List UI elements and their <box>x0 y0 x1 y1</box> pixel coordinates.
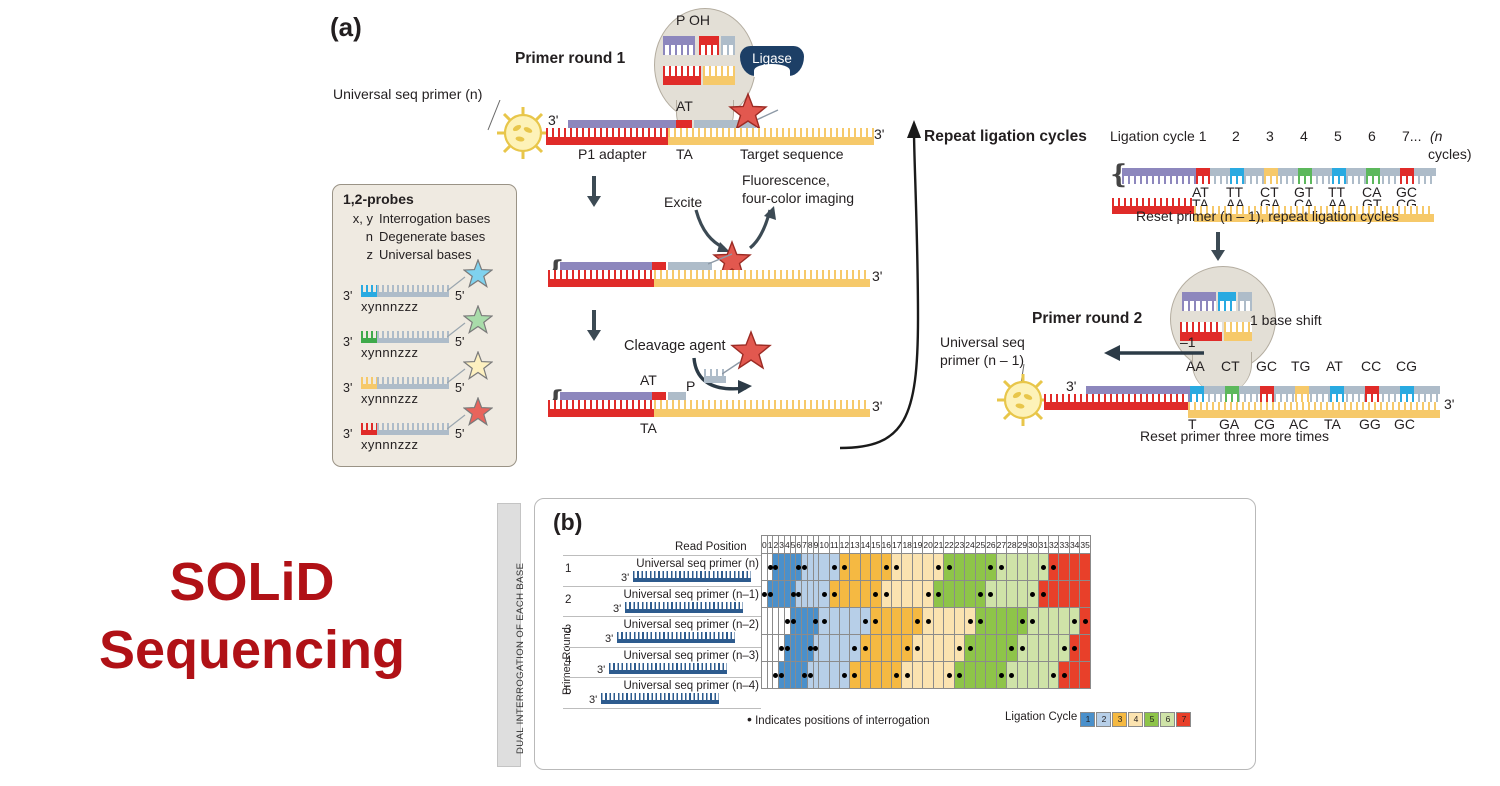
grid-cell <box>839 608 849 635</box>
cleaved-linker <box>722 360 746 378</box>
interrogation-dot <box>873 592 878 597</box>
primer-teeth-4 <box>609 663 727 670</box>
grid-cell <box>986 662 996 689</box>
flow-arrow-3-stem <box>1216 232 1220 252</box>
r2-top-base-1: AA <box>1186 358 1205 374</box>
bubble2-template-red-teeth <box>1180 322 1222 332</box>
interrogation-dot <box>968 619 973 624</box>
grid-cell <box>891 608 901 635</box>
table-row <box>762 554 1091 581</box>
bubble-template-red-teeth <box>663 66 701 76</box>
primer-round-2-label: Primer round 2 <box>1032 310 1142 328</box>
grid-cell <box>912 608 922 635</box>
primer-teeth-5 <box>601 693 719 700</box>
read-position-header-35: 35 <box>1080 536 1090 554</box>
interrogation-dot <box>894 673 899 678</box>
probe-three-prime-2: 3' <box>343 335 352 349</box>
grid-cell <box>1038 581 1048 608</box>
interrogation-dot <box>852 673 857 678</box>
grid-cell <box>839 554 849 581</box>
grid-cell <box>1069 608 1079 635</box>
interrogation-dot <box>863 646 868 651</box>
read-position-label: Read Position <box>675 541 747 553</box>
bubble2-grey-teeth <box>1238 301 1252 311</box>
primer-three-prime-5: 3' <box>589 694 597 706</box>
grid-cell <box>1049 581 1059 608</box>
grid-cell <box>850 635 860 662</box>
interrogation-dot <box>791 592 796 597</box>
interrogation-dot <box>1020 646 1025 651</box>
grid-cell <box>1007 554 1017 581</box>
grid-cell <box>1007 608 1017 635</box>
grid-cell <box>891 635 901 662</box>
lig-top-purple <box>1122 168 1196 176</box>
grid-cell <box>923 608 933 635</box>
probe-backbone-teeth-3 <box>377 377 449 384</box>
strand2-purple <box>560 262 652 270</box>
r2-top-base-7: CG <box>1396 358 1417 374</box>
grid-cell <box>891 662 901 689</box>
grid-cell <box>860 635 870 662</box>
grid-cell <box>902 608 912 635</box>
interrogation-dot <box>988 592 993 597</box>
interrogation-dot <box>822 592 827 597</box>
r2-probe-block-5 <box>1330 386 1344 394</box>
read-position-header-23: 23 <box>954 536 964 554</box>
grid-cell <box>1017 608 1027 635</box>
grid-cell <box>1080 608 1090 635</box>
grid-cell <box>975 635 985 662</box>
grid-cell <box>996 662 1006 689</box>
legend-swatch-cycle-4: 4 <box>1128 712 1143 727</box>
read-position-table: 0123456789101112131415161718192021222324… <box>761 535 1091 689</box>
read-position-header-13: 13 <box>850 536 860 554</box>
n-cycles-line2: cycles) <box>1428 146 1472 162</box>
interrogation-dot <box>947 673 952 678</box>
lig-probe-block-7 <box>1400 168 1414 176</box>
primer-label-3: Universal seq primer (n–2) <box>579 619 759 631</box>
interrogation-dot <box>773 565 778 570</box>
grid-cell <box>1059 581 1069 608</box>
grid-cell <box>944 581 954 608</box>
interrogation-dot <box>1020 619 1025 624</box>
grid-cell <box>1028 608 1038 635</box>
bubble-probe-purple <box>663 36 695 45</box>
read-position-header-row: 0123456789101112131415161718192021222324… <box>762 536 1091 554</box>
lig-probe-block-teeth-5 <box>1332 176 1346 184</box>
grid-cell <box>965 608 975 635</box>
lig-probe-block-5 <box>1332 168 1346 176</box>
interrogation-dot <box>1030 592 1035 597</box>
ligase-shape: Ligase <box>740 46 804 76</box>
table-row <box>762 635 1091 662</box>
legend-swatch-cycle-7: 7 <box>1176 712 1191 727</box>
grid-cell <box>881 554 891 581</box>
grid-cell <box>902 581 912 608</box>
probes-legend-symbol-2: n <box>339 229 373 244</box>
ligation-cycle-number-6: 6 <box>1368 128 1376 144</box>
probes-box-title: 1,2-probes <box>343 191 414 207</box>
probe-sequence-2: xynnnzzz <box>361 345 418 360</box>
bubble-template-yellow-teeth <box>703 66 735 76</box>
interrogation-dot <box>905 646 910 651</box>
interrogation-dot <box>957 673 962 678</box>
interrogation-dot <box>1009 646 1014 651</box>
r2-bot-base-7: GC <box>1394 416 1415 432</box>
primer-three-prime-4: 3' <box>597 664 605 676</box>
grid-cell <box>986 554 996 581</box>
interrogation-dot <box>808 673 813 678</box>
row-divider-3 <box>563 616 761 617</box>
read-position-header-24: 24 <box>965 536 975 554</box>
grid-cell <box>1017 581 1027 608</box>
grid-cell <box>891 554 901 581</box>
bead-icon-1 <box>495 105 551 161</box>
interrogation-dot <box>905 673 910 678</box>
interrogation-dot <box>813 619 818 624</box>
grid-cell <box>1049 608 1059 635</box>
panel-a-label: (a) <box>330 12 362 43</box>
primer-round-number-4: 4 <box>565 655 571 667</box>
row-divider-2 <box>563 586 761 587</box>
grid-cell <box>860 662 870 689</box>
interrogation-dot <box>1062 646 1067 651</box>
bubble2-cyan-teeth <box>1218 301 1236 311</box>
template2-red-teeth <box>548 270 654 279</box>
grid-cell <box>933 581 943 608</box>
table-row <box>762 581 1091 608</box>
interrogation-dot <box>802 673 807 678</box>
interrogation-dot <box>873 619 878 624</box>
interrogation-dot <box>791 619 796 624</box>
bubble2-template-yellow <box>1224 332 1252 341</box>
dual-interrogation-label: DUAL INTERROGATION OF EACH BASE <box>515 563 526 754</box>
lig-probe-block-teeth-3 <box>1264 176 1278 184</box>
grid-cell <box>1038 635 1048 662</box>
grid-cell <box>1059 608 1069 635</box>
grid-cell <box>954 662 964 689</box>
read-position-header-26: 26 <box>986 536 996 554</box>
read-position-header-30: 30 <box>1028 536 1038 554</box>
grid-cell <box>1069 662 1079 689</box>
flow-arrow-1-head <box>587 196 601 207</box>
read-position-header-34: 34 <box>1069 536 1079 554</box>
interrogation-dot <box>1072 646 1077 651</box>
grid-cell <box>996 635 1006 662</box>
read-position-header-25: 25 <box>975 536 985 554</box>
interrogation-dot <box>1041 592 1046 597</box>
grid-cell <box>933 662 943 689</box>
lig-probe-block-teeth-6 <box>1366 176 1380 184</box>
interrogation-dot <box>968 646 973 651</box>
at-label-3: AT <box>640 372 657 388</box>
lig-top-purple-teeth <box>1122 176 1196 184</box>
probe-sequence-1: xynnnzzz <box>361 299 418 314</box>
interrogation-dot <box>1072 619 1077 624</box>
strand2-grey-probe <box>668 262 712 270</box>
grid-cell <box>850 581 860 608</box>
grid-cell <box>1069 554 1079 581</box>
grid-cell <box>839 662 849 689</box>
grid-cell <box>1069 581 1079 608</box>
ligation-cycle-number-7: 7... <box>1402 128 1421 144</box>
probe-sequence-4: xynnnzzz <box>361 437 418 452</box>
interrogation-dot <box>796 592 801 597</box>
grid-cell <box>1028 662 1038 689</box>
probe-backbone-teeth-1 <box>377 285 449 292</box>
grid-cell <box>1080 554 1090 581</box>
grid-cell <box>1028 554 1038 581</box>
probes-legend-desc-2: Degenerate bases <box>379 229 485 244</box>
grid-cell <box>850 554 860 581</box>
primer-round-number-2: 2 <box>565 594 571 606</box>
grid-cell <box>1007 662 1017 689</box>
strand1-red-probe <box>676 120 692 128</box>
template3-red-teeth <box>548 400 654 409</box>
ta-label-bottom-1: TA <box>676 146 693 162</box>
recycle-arrow <box>810 118 930 458</box>
grid-cell <box>891 581 901 608</box>
interrogation-dot <box>915 619 920 624</box>
grid-cell <box>944 608 954 635</box>
r2-probe-block-teeth-7 <box>1400 394 1414 402</box>
probes-legend-symbol-1: x, y <box>339 211 373 226</box>
p1-adapter-label: P1 adapter <box>578 146 647 162</box>
bubble-probe-red <box>699 36 719 45</box>
grid-cell <box>923 662 933 689</box>
lig-probe-block-4 <box>1298 168 1312 176</box>
probe-interrogation-teeth-4 <box>361 423 377 430</box>
interrogation-dot <box>947 565 952 570</box>
grid-cell <box>944 635 954 662</box>
grid-footnote-text: Indicates positions of interrogation <box>755 715 930 727</box>
grid-cell <box>829 662 839 689</box>
probe-three-prime-3: 3' <box>343 381 352 395</box>
grid-cell <box>965 635 975 662</box>
strand2-fluor-linker <box>708 252 738 268</box>
probe-backbone-teeth-2 <box>377 331 449 338</box>
bubble-probe-purple-teeth <box>663 45 695 55</box>
grid-cell <box>871 608 881 635</box>
n-cycles-line1: (n <box>1430 128 1442 144</box>
primer-round-axis: Primer Round <box>549 617 563 697</box>
grid-cell <box>871 581 881 608</box>
r2-probe-block-teeth-4 <box>1295 394 1309 402</box>
probe-five-prime-4: 5' <box>455 427 464 441</box>
interrogation-dot <box>978 619 983 624</box>
interrogation-dot <box>988 565 993 570</box>
interrogation-dot <box>926 592 931 597</box>
interrogation-dot <box>884 592 889 597</box>
grid-cell <box>902 554 912 581</box>
interrogation-dot <box>936 565 941 570</box>
grid-cell <box>1038 554 1048 581</box>
flow-arrow-2-head <box>587 330 601 341</box>
probes-legend-desc-3: Universal bases <box>379 247 472 262</box>
grid-cell <box>933 635 943 662</box>
lig-probe-block-teeth-1 <box>1196 176 1210 184</box>
lig-top-probe-blocks <box>1196 168 1436 184</box>
interrogation-dot <box>936 592 941 597</box>
grid-cell <box>1059 662 1069 689</box>
probe-three-prime-4: 3' <box>343 427 352 441</box>
flow-arrow-3-head <box>1211 250 1225 261</box>
grid-cell <box>829 608 839 635</box>
interrogation-dot <box>842 565 847 570</box>
interrogation-dot <box>773 673 778 678</box>
interrogation-dot <box>802 565 807 570</box>
r2-probe-block-4 <box>1295 386 1309 394</box>
panel-b-label: (b) <box>553 509 582 536</box>
r2-probe-block-teeth-1 <box>1190 394 1204 402</box>
r2-probe-block-6 <box>1365 386 1379 394</box>
grid-cell <box>881 581 891 608</box>
three-prime-left-round2: 3' <box>1066 378 1076 394</box>
p-oh-label: P OH <box>676 12 710 28</box>
primer-three-prime-3: 3' <box>605 633 613 645</box>
interrogation-dot <box>863 619 868 624</box>
bubble-probe-grey <box>721 36 735 45</box>
grid-cell <box>933 608 943 635</box>
grid-cell <box>912 662 922 689</box>
grid-cell <box>1049 662 1059 689</box>
grid-cell <box>954 608 964 635</box>
table-row <box>762 662 1091 689</box>
read-position-header-31: 31 <box>1038 536 1048 554</box>
ligation-cycle-swatches: 1234567 <box>1080 711 1192 723</box>
primer-teeth-2 <box>625 602 743 609</box>
interrogation-dot <box>999 673 1004 678</box>
interrogation-dot <box>785 619 790 624</box>
grid-cell <box>954 581 964 608</box>
lig-probe-block-6 <box>1366 168 1380 176</box>
primer-three-prime-2: 3' <box>613 603 621 615</box>
grid-cell <box>933 554 943 581</box>
probe-five-prime-1: 5' <box>455 289 464 303</box>
grid-cell <box>902 635 912 662</box>
grid-cell <box>923 554 933 581</box>
lig-probe-block-teeth-4 <box>1298 176 1312 184</box>
row-divider-bottom <box>563 708 761 709</box>
dual-interrogation-sidebar: DUAL INTERROGATION OF EACH BASE <box>497 503 521 767</box>
grid-cell <box>912 581 922 608</box>
grid-cell <box>1017 635 1027 662</box>
grid-cell <box>975 662 985 689</box>
grid-cell <box>996 608 1006 635</box>
r2-top-base-row: AACTGCTGATCCCG <box>1186 358 1446 376</box>
grid-cell <box>923 635 933 662</box>
grid-cell <box>819 608 829 635</box>
cleavage-agent-label: Cleavage agent <box>624 338 726 354</box>
grid-cell <box>1069 635 1079 662</box>
template1-red <box>546 137 668 145</box>
interrogation-dot <box>978 592 983 597</box>
three-prime-left-1: 3' <box>548 112 558 128</box>
grid-cell <box>986 581 996 608</box>
interrogation-dot <box>785 646 790 651</box>
interrogation-dot <box>1051 565 1056 570</box>
primer-label-5: Universal seq primer (n–4) <box>579 680 759 692</box>
grid-cell <box>944 554 954 581</box>
legend-swatch-cycle-5: 5 <box>1144 712 1159 727</box>
grid-cell <box>912 635 922 662</box>
grid-cell <box>965 662 975 689</box>
grid-cell <box>829 581 839 608</box>
grid-cell <box>1028 635 1038 662</box>
grid-cell <box>819 662 829 689</box>
at-label-top-1: AT <box>676 98 693 114</box>
grid-cell <box>1038 608 1048 635</box>
probes-legend-rows: x, yInterrogation basesnDegenerate bases… <box>339 211 515 265</box>
bubble-template-yellow <box>703 76 735 85</box>
grid-cell <box>1017 662 1027 689</box>
grid-cell <box>996 554 1006 581</box>
r2-top-base-4: TG <box>1291 358 1310 374</box>
grid-cell <box>871 554 881 581</box>
interrogation-dot <box>1083 619 1088 624</box>
grid-cell <box>881 635 891 662</box>
interrogation-dot <box>813 646 818 651</box>
grid-cell <box>965 581 975 608</box>
grid-cell <box>839 635 849 662</box>
template1-red-teeth <box>546 128 668 137</box>
primer-three-prime-1: 3' <box>621 572 629 584</box>
fluorophore-star-1 <box>728 92 768 132</box>
interrogation-dot <box>1062 673 1067 678</box>
strand3-grey-stub <box>668 392 686 400</box>
r2-top-purple <box>1086 386 1190 394</box>
interrogation-dot <box>957 646 962 651</box>
grid-cell <box>1080 662 1090 689</box>
page-title: SOLiD Sequencing <box>52 548 452 684</box>
interrogation-dot <box>779 673 784 678</box>
interrogation-dot <box>1009 673 1014 678</box>
grid-cell <box>819 635 829 662</box>
r2-top-base-6: CC <box>1361 358 1381 374</box>
r2-bot-red <box>1044 402 1188 410</box>
reset-primer-three-more-label: Reset primer three more times <box>1140 428 1329 444</box>
grid-cell <box>902 662 912 689</box>
probe-sequence-3: xynnnzzz <box>361 391 418 406</box>
probe-backbone-teeth-4 <box>377 423 449 430</box>
title-line-2: Sequencing <box>52 616 452 684</box>
row-divider-1 <box>563 555 761 556</box>
interrogation-dot <box>915 646 920 651</box>
interrogation-dot <box>926 619 931 624</box>
primer-round-number-1: 1 <box>565 563 571 575</box>
legend-swatch-cycle-3: 3 <box>1112 712 1127 727</box>
r2-top-base-2: CT <box>1221 358 1240 374</box>
grid-cell <box>839 581 849 608</box>
grid-cell <box>829 554 839 581</box>
interrogation-dot <box>832 592 837 597</box>
grid-cell <box>1059 635 1069 662</box>
grid-cell <box>1049 635 1059 662</box>
interrogation-dot <box>1030 619 1035 624</box>
legend-swatch-cycle-2: 2 <box>1096 712 1111 727</box>
legend-swatch-cycle-6: 6 <box>1160 712 1175 727</box>
template3-red <box>548 409 654 417</box>
ligation-cycle-number-4: 4 <box>1300 128 1308 144</box>
read-position-header-33: 33 <box>1059 536 1069 554</box>
r2-top-probe-blocks <box>1190 386 1440 402</box>
lig-probe-block-teeth-2 <box>1230 176 1244 184</box>
interrogation-dot <box>832 565 837 570</box>
read-position-header-20: 20 <box>923 536 933 554</box>
grid-cell <box>819 581 829 608</box>
primer-teeth-3 <box>617 632 735 639</box>
read-position-header-22: 22 <box>944 536 954 554</box>
